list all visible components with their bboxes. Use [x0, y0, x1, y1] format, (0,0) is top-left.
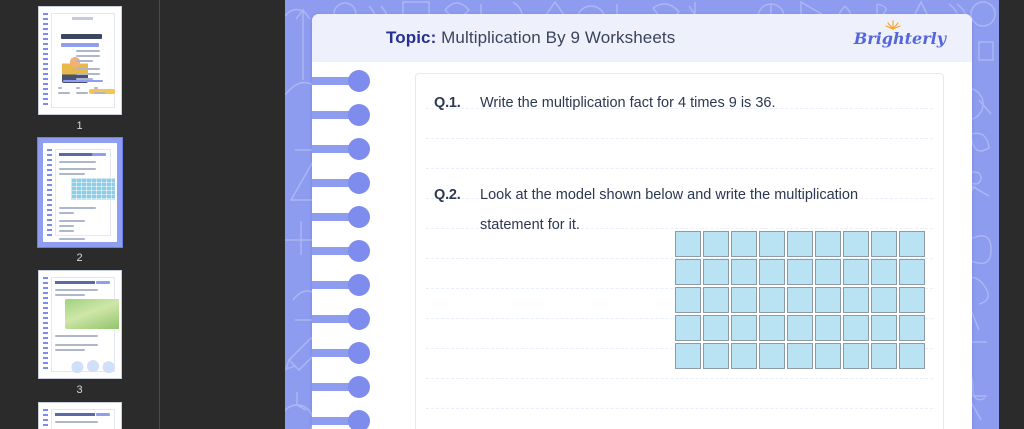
thumbnail-subheading	[61, 43, 99, 47]
page-title: Topic: Multiplication By 9 Worksheets	[386, 28, 675, 48]
thumbnail-line	[55, 289, 99, 291]
array-model-cell	[759, 343, 785, 369]
array-model-cell	[675, 343, 701, 369]
thumbnail-line	[59, 225, 74, 227]
thumbnail-brand	[96, 413, 110, 416]
array-model-cell	[843, 259, 869, 285]
spiral-ring	[312, 308, 376, 330]
array-model-cell	[731, 315, 757, 341]
spiral-ring	[312, 240, 376, 262]
thumbnail-spiral-icon	[43, 13, 48, 108]
thumbnail-line	[58, 92, 71, 94]
thumbnail-heading	[61, 34, 102, 39]
thumbnail-page-1[interactable]: 1	[38, 6, 122, 132]
sunburst-icon	[885, 20, 901, 30]
thumbnail-line	[63, 80, 103, 82]
spiral-ring	[312, 274, 376, 296]
array-model-cell	[871, 287, 897, 313]
array-model-cell	[787, 231, 813, 257]
array-model-cell	[703, 259, 729, 285]
thumbnail-column	[94, 87, 108, 97]
thumbnail-line	[76, 92, 89, 94]
array-model-cell	[843, 231, 869, 257]
thumbnail-line	[59, 161, 96, 163]
thumbnail-page-number: 2	[76, 252, 82, 264]
array-model-cell	[815, 315, 841, 341]
thumbnail-column	[58, 87, 72, 97]
spiral-ring	[312, 376, 376, 398]
spiral-ring	[312, 172, 376, 194]
question-item-1: Q.1. Write the multiplication fact for 4…	[434, 88, 925, 118]
spiral-ring-dot	[348, 376, 370, 398]
question-text: Write the multiplication fact for 4 time…	[480, 88, 925, 118]
thumbnail-line	[76, 55, 101, 57]
thumbnail-page-number: 1	[76, 120, 82, 132]
array-model-cell	[703, 315, 729, 341]
array-model-cell	[843, 315, 869, 341]
spiral-ring-dot	[348, 274, 370, 296]
array-model-cell	[731, 343, 757, 369]
thumbnail-content	[55, 149, 111, 236]
thumbnail-page-4[interactable]: 4	[38, 402, 122, 429]
spiral-ring	[312, 70, 376, 92]
worksheet-body: Q.1. Write the multiplication fact for 4…	[312, 62, 972, 429]
thumbnail-frame	[38, 270, 122, 379]
thumbnail-page-number: 3	[76, 384, 82, 396]
spiral-ring-dot	[348, 70, 370, 92]
thumbnail-heading	[59, 153, 94, 156]
thumbnail-frame	[38, 402, 122, 429]
thumbnail-page-3[interactable]: 3	[38, 270, 122, 396]
thumbnail-line	[55, 294, 86, 296]
thumbnail-content	[51, 13, 115, 108]
thumbnail-spiral-icon	[43, 277, 48, 372]
array-model-cell	[899, 259, 925, 285]
topic-label: Topic:	[386, 28, 436, 47]
thumbnail-frame	[38, 6, 122, 115]
array-model-cell	[759, 259, 785, 285]
thumbnail-column	[76, 87, 90, 97]
thumbnail-heading	[55, 413, 95, 416]
thumbnail-preview	[41, 273, 119, 376]
thumbnail-line	[58, 87, 62, 89]
thumbnail-line	[59, 168, 96, 170]
array-model-cell	[871, 259, 897, 285]
thumbnail-frame	[38, 138, 122, 247]
worksheet-header: Topic: Multiplication By 9 Worksheets B	[312, 14, 972, 62]
question-number: Q.1.	[434, 88, 480, 118]
array-model-cell	[759, 315, 785, 341]
array-model-cell	[759, 287, 785, 313]
brand-text: Brighterly	[854, 29, 946, 48]
array-model-cell	[899, 287, 925, 313]
writing-line	[426, 378, 933, 379]
array-model	[675, 231, 925, 369]
spiral-ring-dot	[348, 104, 370, 126]
thumbnail-line	[76, 60, 94, 62]
spiral-ring	[312, 104, 376, 126]
spiral-ring	[312, 342, 376, 364]
array-model-cell	[675, 231, 701, 257]
thumbnail-preview	[45, 145, 115, 240]
thumbnail-line	[76, 50, 101, 52]
thumbnail-line	[59, 220, 85, 222]
thumbnail-heading	[55, 281, 95, 284]
thumbnail-preview	[41, 405, 119, 429]
array-model-cell	[703, 287, 729, 313]
array-model-cell	[815, 343, 841, 369]
thumbnail-line	[55, 335, 99, 337]
array-model-cell	[871, 231, 897, 257]
spiral-ring	[312, 410, 376, 429]
spiral-ring-dot	[348, 240, 370, 262]
spiral-ring-dot	[348, 138, 370, 160]
thumbnail-brand	[92, 153, 106, 156]
thumbnail-line	[55, 349, 86, 351]
spiral-ring-dot	[348, 308, 370, 330]
thumbnail-line	[94, 92, 107, 94]
thumbnail-page-2[interactable]: 2	[38, 138, 122, 264]
array-model-cell	[899, 315, 925, 341]
array-model-cell	[815, 259, 841, 285]
thumbnail-line	[59, 173, 85, 175]
worksheet-page[interactable]: Topic: Multiplication By 9 Worksheets B	[312, 14, 972, 429]
thumbnail-line	[55, 421, 99, 423]
thumbnail-line	[59, 230, 74, 232]
spiral-ring-dot	[348, 206, 370, 228]
questions-list: Q.1. Write the multiplication fact for 4…	[416, 74, 943, 240]
array-model-cell	[731, 231, 757, 257]
array-model-cell	[815, 231, 841, 257]
viewer-gutter	[161, 0, 285, 429]
array-model-cell	[899, 343, 925, 369]
thumbnail-footer	[58, 80, 108, 97]
array-model-cell	[675, 315, 701, 341]
thumbnail-brand	[72, 17, 93, 20]
writing-line	[426, 408, 933, 409]
array-model-cell	[787, 343, 813, 369]
thumbnail-line	[55, 344, 99, 346]
screenshot-root: 1	[0, 0, 1024, 429]
array-model-cell	[787, 259, 813, 285]
spiral-ring	[312, 206, 376, 228]
spiral-ring-dot	[348, 172, 370, 194]
thumbnail-line	[59, 212, 74, 214]
spiral-ring-dot	[348, 342, 370, 364]
thumbnail-line	[76, 87, 80, 89]
thumbnail-illustration	[67, 354, 119, 376]
array-model-cell	[675, 287, 701, 313]
thumbnail-line	[59, 238, 85, 240]
thumbnail-spiral-icon	[43, 409, 48, 429]
thumbnail-preview	[41, 9, 119, 112]
array-model-cell	[843, 343, 869, 369]
brighterly-logo: Brighterly	[854, 29, 946, 48]
thumbnail-line	[76, 73, 101, 75]
question-box: Q.1. Write the multiplication fact for 4…	[415, 73, 944, 429]
page-thumbnail-panel[interactable]: 1	[0, 0, 160, 429]
array-model-cell	[787, 315, 813, 341]
array-model-cell	[843, 287, 869, 313]
thumbnail-list: 1	[0, 0, 159, 429]
thumbnail-photo	[65, 299, 119, 329]
array-model-cell	[703, 343, 729, 369]
thumbnail-brand	[96, 281, 110, 284]
spiral-ring-dot	[348, 410, 370, 429]
thumbnail-array-model	[71, 178, 115, 200]
array-model-cell	[731, 287, 757, 313]
topic-title: Multiplication By 9 Worksheets	[441, 28, 675, 47]
array-model-cell	[815, 287, 841, 313]
thumbnail-content	[51, 409, 115, 429]
array-model-cell	[759, 231, 785, 257]
thumbnail-content	[51, 277, 115, 372]
array-model-cell	[899, 231, 925, 257]
thumbnail-spiral-icon	[47, 149, 52, 236]
array-model-cell	[787, 287, 813, 313]
spiral-binding	[312, 62, 376, 429]
document-viewport[interactable]: Topic: Multiplication By 9 Worksheets B	[285, 0, 999, 429]
thumbnail-line	[94, 87, 98, 89]
array-model-cell	[703, 231, 729, 257]
thumbnail-line	[76, 68, 101, 70]
array-model-cell	[871, 343, 897, 369]
viewer-right-gutter	[999, 0, 1024, 429]
thumbnail-line	[59, 207, 96, 209]
array-model-cell	[675, 259, 701, 285]
spiral-ring	[312, 138, 376, 160]
question-number: Q.2.	[434, 180, 480, 240]
thumbnail-text-block	[76, 50, 108, 83]
array-model-cell	[731, 259, 757, 285]
array-model-cell	[871, 315, 897, 341]
